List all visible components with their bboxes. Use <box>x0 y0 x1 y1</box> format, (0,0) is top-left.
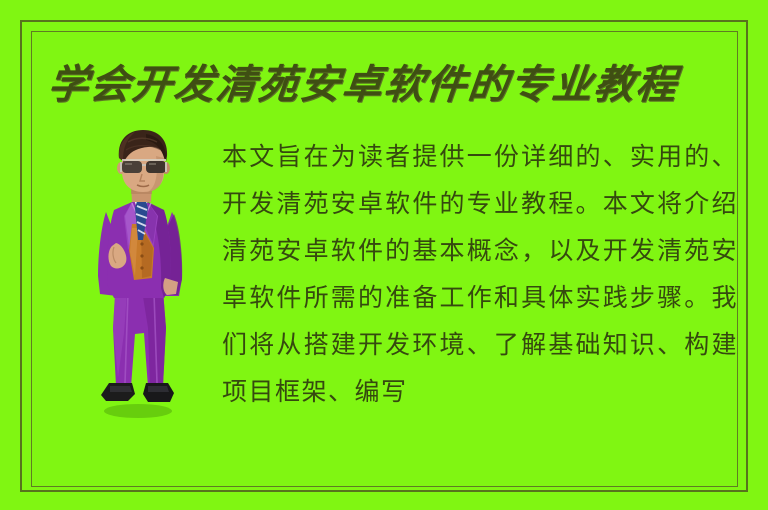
poster-canvas: 学会开发清苑安卓软件的专业教程 <box>0 0 768 510</box>
body-paragraph: 本文旨在为读者提供一份详细的、实用的、开发清苑安卓软件的专业教程。本文将介绍清苑… <box>222 133 738 405</box>
right-shoe <box>143 383 174 402</box>
page-title: 学会开发清苑安卓软件的专业教程 <box>45 56 691 114</box>
character-illustration <box>62 128 212 420</box>
